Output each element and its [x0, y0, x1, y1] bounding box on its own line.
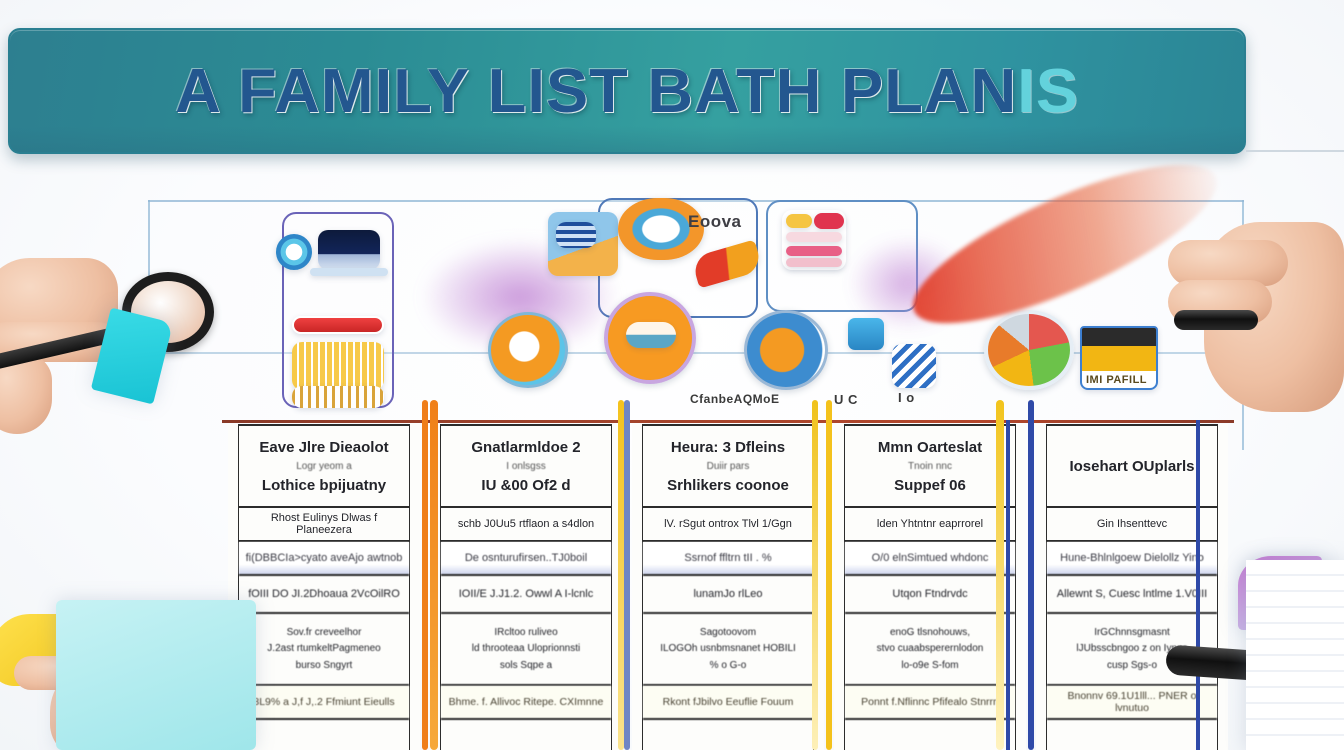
table-column-body: Eave Jlre DieaolotLogr yeom aLothice bpi…	[238, 424, 410, 750]
page-title-banner: A FAMILY LIST BATH PLANIS	[8, 28, 1246, 154]
table-cell-line: stvo cuaabsperernlodon	[877, 641, 984, 657]
header-text: Tnoin nnc	[908, 461, 952, 472]
pink-list-row-3	[786, 232, 842, 242]
laptop-base-icon	[310, 268, 388, 276]
pink-list-row-5	[786, 258, 842, 267]
table-cell-line: % o G-o	[710, 658, 747, 674]
header-text: IU &00 Of2 d	[481, 477, 570, 494]
red-card-icon	[292, 316, 384, 334]
table-row[interactable]: Rhost Eulinys Dlwas f Planeezera	[239, 508, 409, 542]
notebook-sheet	[1246, 560, 1344, 750]
table-column-header: Eave Jlre DieaolotLogr yeom aLothice bpi…	[239, 424, 409, 508]
header-text: Logr yeom a	[296, 461, 352, 472]
center-label: CfanbeAQMoE	[690, 392, 780, 406]
presentation-bars-icon	[556, 222, 596, 248]
table-row[interactable]: De osnturufirsen..TJ0boil	[441, 542, 611, 576]
table-row[interactable]: fi(DBBCIa>cyato aveAjo awtnob	[239, 542, 409, 576]
tick-strip-icon	[292, 386, 384, 408]
pink-list-row-1	[786, 214, 812, 228]
table-row[interactable]: IRcltoo ruliveold throoteaa Uloprionnsti…	[441, 614, 611, 686]
orange-badge-inner-icon	[626, 322, 676, 348]
table-row[interactable]: Allewnt S, Cuesc lntlme 1.V0III	[1047, 576, 1217, 614]
header-text: Lothice bpijuatny	[262, 477, 386, 494]
beaker-label: IMI PAFILL	[1086, 374, 1147, 386]
column-divider-5	[1006, 420, 1010, 750]
table-column-header: Mmn OarteslatTnoin nncSuppef 06	[845, 424, 1015, 508]
table-column-body: Heura: 3 DfleinsDuiir parsSrhlikers coon…	[642, 424, 814, 750]
pink-list-row-2	[814, 213, 844, 229]
page-title-suffix: IS	[1017, 57, 1079, 126]
table-row-empty	[845, 720, 1015, 750]
table-row[interactable]: Bhme. f. Allivoc Ritepe. CXImnne	[441, 686, 611, 720]
header-text: Srhlikers coonoe	[667, 477, 789, 494]
table-column-divider	[1026, 424, 1036, 750]
table-row[interactable]: lden Yhtntnr eaprrorel	[845, 508, 1015, 542]
table-row[interactable]: Utqon Ftndrvdc	[845, 576, 1015, 614]
table-row[interactable]: enoG tlsnohouws,stvo cuaabsperernlodonlo…	[845, 614, 1015, 686]
cyan-mat-decoration	[56, 600, 256, 750]
cloud-label: Eoova	[688, 212, 742, 232]
header-text: Gnatlarmldoe 2	[471, 439, 580, 456]
small-label-2: I o	[898, 390, 915, 405]
screenshot-root: A FAMILY LIST BATH PLANIS IMI PAFILL Eoo…	[0, 0, 1344, 750]
table-cell-line: J.2ast rtumkeltPagmeneo	[267, 641, 380, 657]
table-row[interactable]: fOIII DO JI.2Dhoaua 2VcOilRO	[239, 576, 409, 614]
blue-ribbon-icon	[892, 344, 936, 388]
table-column-divider	[420, 424, 430, 750]
table-row-empty	[643, 720, 813, 750]
column-divider-4	[996, 400, 1004, 750]
table-column-body: Gnatlarmldoe 2I onlsgssIU &00 Of2 dschb …	[440, 424, 612, 750]
table-row[interactable]: lV. rSgut ontrox Tlvl 1/Ggn	[643, 508, 813, 542]
banner-rule	[1246, 150, 1344, 152]
table-column-body: Iosehart OUplarlsGin IhsenttevcHune-Bhln…	[1046, 424, 1218, 750]
table-column[interactable]: Gnatlarmldoe 2I onlsgssIU &00 Of2 dschb …	[430, 424, 622, 750]
table-row[interactable]: Bnonnv 69.1U1lll... PNER o lvnutuo	[1047, 686, 1217, 720]
table-row[interactable]: Sov.fr creveelhorJ.2ast rtumkeltPagmeneo…	[239, 614, 409, 686]
blue-orange-badge-icon	[488, 312, 568, 388]
laptop-screen-icon	[318, 230, 380, 270]
table-row[interactable]: Hune-Bhlnlgoew Dielollz Yino	[1047, 542, 1217, 576]
header-text: I onlsgss	[506, 461, 545, 472]
table-row[interactable]: SagotoovomILOGOh usnbmsnanet HOBILI% o G…	[643, 614, 813, 686]
barcode-card-icon	[292, 342, 384, 390]
table-cell-line: cusp Sgs-o	[1107, 658, 1157, 674]
table-cell-line: IRcltoo ruliveo	[494, 625, 557, 641]
comparison-table: Eave Jlre DieaolotLogr yeom aLothice bpi…	[228, 424, 1228, 750]
table-row[interactable]: lunamJo rlLeo	[643, 576, 813, 614]
table-column-header: Heura: 3 DfleinsDuiir parsSrhlikers coon…	[643, 424, 813, 508]
table-row[interactable]: IOII/E J.J1.2. Owwl A I-lcnlc	[441, 576, 611, 614]
header-text: Mmn Oarteslat	[878, 439, 982, 456]
table-column[interactable]: Eave Jlre DieaolotLogr yeom aLothice bpi…	[228, 424, 420, 750]
header-text: Eave Jlre Dieaolot	[259, 439, 388, 456]
table-columns: Eave Jlre DieaolotLogr yeom aLothice bpi…	[228, 424, 1228, 750]
column-divider-1	[430, 400, 438, 750]
folder-badge-icon	[744, 310, 828, 390]
table-row[interactable]: O/0 elnSimtued whdonc	[845, 542, 1015, 576]
table-cell-line: lo-o9e S-fom	[901, 658, 958, 674]
page-title: A FAMILY LIST BATH PLANIS	[175, 56, 1079, 127]
table-cell-line: IrGChnnsgmasnt	[1094, 625, 1170, 641]
table-top-rail	[222, 420, 1234, 423]
table-cell-line: Sagotoovom	[700, 625, 756, 641]
pink-list-row-4	[786, 246, 842, 256]
table-row[interactable]: 3L9% a J,f J,.2 Ffmiunt Eieulls	[239, 686, 409, 720]
hand-with-stylus	[1168, 222, 1344, 472]
table-column-header: Gnatlarmldoe 2I onlsgssIU &00 Of2 d	[441, 424, 611, 508]
column-divider-2	[618, 400, 624, 750]
clock-gauge-icon	[276, 234, 312, 270]
header-text: Suppef 06	[894, 477, 966, 494]
table-cell-line: sols Sqpe a	[500, 658, 552, 674]
table-column-body: Mmn OarteslatTnoin nncSuppef 06lden Yhtn…	[844, 424, 1016, 750]
pie-chart-icon	[984, 310, 1074, 390]
header-text: Duiir pars	[707, 461, 750, 472]
table-cell-line: burso Sngyrt	[296, 658, 353, 674]
blue-folder-icon	[848, 318, 884, 350]
table-row[interactable]: schb J0Uu5 rtflaon a s4dlon	[441, 508, 611, 542]
table-row-empty	[441, 720, 611, 750]
table-cell-line: enoG tlsnohouws,	[890, 625, 970, 641]
column-divider-3	[812, 400, 818, 750]
table-cell-line: ld throoteaa Uloprionnsti	[472, 641, 580, 657]
table-row[interactable]: Rkont fJbilvo Eeuflie Fouum	[643, 686, 813, 720]
header-text: Heura: 3 Dfleins	[671, 439, 785, 456]
table-cell-line: ILOGOh usnbmsnanet HOBILI	[660, 641, 796, 657]
table-cell-line: Sov.fr creveelhor	[287, 625, 362, 641]
table-row[interactable]: Ssrnof ffltrn tII . %	[643, 542, 813, 576]
table-column-divider	[824, 424, 834, 750]
table-row-empty	[1047, 720, 1217, 750]
small-label-1: U C	[834, 392, 858, 407]
table-row[interactable]: Gin Ihsenttevc	[1047, 508, 1217, 542]
stylus-pen-icon	[1174, 310, 1258, 330]
table-row-empty	[239, 720, 409, 750]
page-title-text: A FAMILY LIST BATH PLAN	[175, 57, 1017, 126]
table-row[interactable]: Ponnt f.Nflinnc Pfifealo Stnrrn	[845, 686, 1015, 720]
table-column[interactable]: Heura: 3 DfleinsDuiir parsSrhlikers coon…	[632, 424, 824, 750]
